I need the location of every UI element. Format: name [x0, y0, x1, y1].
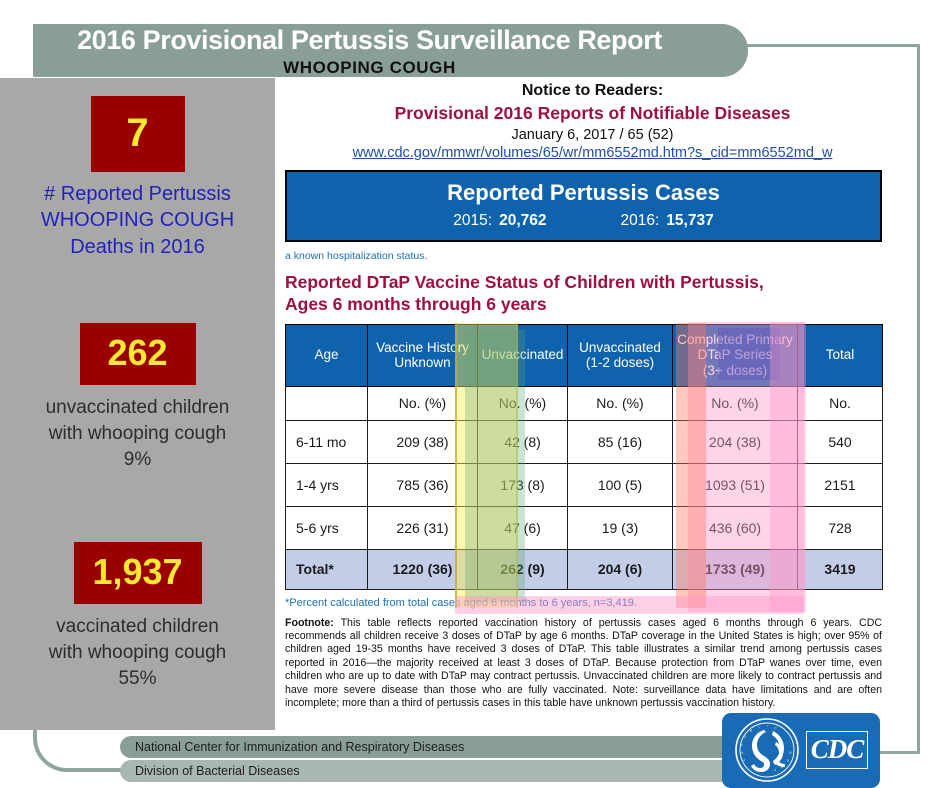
svg-text:I: I: [767, 724, 768, 728]
stat-value-unvaccinated: 262: [80, 323, 196, 385]
footnote-paragraph: Footnote: This table reflects reported v…: [285, 617, 882, 710]
total-row-unvacc: 262 (9): [478, 549, 568, 589]
sidebar-stats-panel: 7 # Reported Pertussis WHOOPING COUGH De…: [0, 78, 275, 730]
col-header-cps-l1: Completed Primary: [675, 332, 795, 348]
row-1-unvacc: 173 (8): [478, 463, 568, 506]
row-0-vhu: 209 (38): [368, 420, 478, 463]
row-0-cps: 204 (38): [673, 420, 798, 463]
page-title: 2016 Provisional Pertussis Surveillance …: [33, 25, 706, 56]
col-header-unvacc-l1: Unvaccinated: [480, 347, 565, 363]
col-header-unvaccinated-1-2-doses: Unvaccinated (1-2 doses): [568, 324, 673, 386]
cases-2015-label: 2015:: [453, 212, 492, 229]
row-2-vhu: 226 (31): [368, 506, 478, 549]
hospitalization-note: a known hospitalization status.: [285, 250, 900, 262]
main-content: Notice to Readers: Provisional 2016 Repo…: [285, 82, 900, 710]
col-header-age: Age: [286, 324, 368, 386]
unit-cell-age: [286, 386, 368, 420]
cdc-logo: U S P U B L I C D E P T CDC: [722, 713, 880, 788]
table-header-row: Age Vaccine History Unknown Unvaccinated…: [286, 324, 883, 386]
decorative-frame-left-hook: [33, 730, 123, 772]
col-header-vhu-l1: Vaccine History: [370, 340, 475, 356]
stat-block-vaccinated: 1,937 vaccinated children with whooping …: [0, 542, 275, 692]
page-subtitle: WHOOPING COUGH: [33, 58, 706, 78]
col-header-vaccine-history-unknown: Vaccine History Unknown: [368, 324, 478, 386]
notice-subtitle: Provisional 2016 Reports of Notifiable D…: [285, 103, 900, 124]
total-row-total: 3419: [798, 549, 883, 589]
stat-caption-unvaccinated: unvaccinated children with whooping coug…: [0, 395, 275, 473]
row-0-age: 6-11 mo: [286, 420, 368, 463]
cases-2015: 2015:20,762: [453, 212, 546, 230]
cases-2016-value: 15,737: [666, 212, 713, 229]
unit-cell-cps: No. (%): [673, 386, 798, 420]
stat-block-deaths: 7 # Reported Pertussis WHOOPING COUGH De…: [0, 96, 275, 260]
header-title-bar: 2016 Provisional Pertussis Surveillance …: [33, 24, 748, 77]
footnote-body: This table reflects reported vaccination…: [285, 617, 882, 709]
stat-block-unvaccinated: 262 unvaccinated children with whooping …: [0, 323, 275, 473]
svg-text:B: B: [749, 728, 752, 732]
unit-cell-total: No.: [798, 386, 883, 420]
col-header-cps-l2: DTaP Series: [675, 347, 795, 363]
reported-cases-title: Reported Pertussis Cases: [287, 180, 880, 206]
row-1-total: 2151: [798, 463, 883, 506]
notice-title: Notice to Readers:: [285, 82, 900, 100]
col-header-age-l1: Age: [288, 347, 365, 363]
table-total-row: Total* 1220 (36) 262 (9) 204 (6) 1733 (4…: [286, 549, 883, 589]
col-header-unvaccinated: Unvaccinated: [478, 324, 568, 386]
dtap-vaccine-status-table: Age Vaccine History Unknown Unvaccinated…: [285, 324, 883, 590]
unit-cell-vhu: No. (%): [368, 386, 478, 420]
total-row-cps: 1733 (49): [673, 549, 798, 589]
col-header-vhu-l2: Unknown: [370, 355, 475, 371]
col-header-cps-l3: (3+ doses): [675, 363, 795, 379]
total-row-vhu: 1220 (36): [368, 549, 478, 589]
row-1-vhu: 785 (36): [368, 463, 478, 506]
stat-caption-unvaccinated-line2: with whooping cough: [0, 421, 275, 447]
row-2-unvacc: 47 (6): [478, 506, 568, 549]
row-2-unvacc12: 19 (3): [568, 506, 673, 549]
row-2-age: 5-6 yrs: [286, 506, 368, 549]
row-1-cps: 1093 (51): [673, 463, 798, 506]
stat-caption-vaccinated: vaccinated children with whooping cough …: [0, 614, 275, 692]
total-row-label: Total*: [286, 549, 368, 589]
footer-org-line1: National Center for Immunization and Res…: [135, 736, 464, 758]
col-header-completed-primary-series: Completed Primary DTaP Series (3+ doses): [673, 324, 798, 386]
row-1-unvacc12: 100 (5): [568, 463, 673, 506]
svg-text:T: T: [774, 768, 776, 772]
total-row-unvacc12: 204 (6): [568, 549, 673, 589]
row-0-unvacc: 42 (8): [478, 420, 568, 463]
cdc-wordmark: CDC: [806, 731, 868, 769]
svg-text:P: P: [740, 743, 744, 747]
svg-text:U: U: [743, 735, 747, 740]
svg-text:E: E: [786, 758, 789, 762]
stat-caption-deaths-line3: Deaths in 2016: [0, 234, 275, 260]
stat-caption-vaccinated-line3: 55%: [0, 666, 275, 692]
stat-caption-deaths: # Reported Pertussis WHOOPING COUGH Deat…: [0, 181, 275, 260]
stat-caption-unvaccinated-line1: unvaccinated children: [0, 395, 275, 421]
table-unit-row: No. (%) No. (%) No. (%) No. (%) No.: [286, 386, 883, 420]
svg-text:P: P: [781, 764, 784, 768]
percent-footnote: *Percent calculated from total cases age…: [285, 597, 900, 609]
col-header-unvacc12-l1: Unvaccinated: [570, 340, 670, 356]
svg-text:C: C: [774, 726, 778, 731]
col-header-total: Total: [798, 324, 883, 386]
row-0-unvacc12: 85 (16): [568, 420, 673, 463]
row-2-cps: 436 (60): [673, 506, 798, 549]
reported-cases-values: 2015:20,762 2016:15,737: [287, 212, 880, 230]
unit-cell-unvacc12: No. (%): [568, 386, 673, 420]
stat-caption-deaths-line2: WHOOPING COUGH: [0, 207, 275, 233]
footnote-label: Footnote:: [285, 617, 334, 629]
stat-value-deaths: 7: [91, 96, 185, 172]
stat-caption-vaccinated-line1: vaccinated children: [0, 614, 275, 640]
cases-2016-label: 2016:: [621, 212, 660, 229]
hhs-seal-icon: U S P U B L I C D E P T: [734, 717, 800, 783]
col-header-total-l1: Total: [800, 347, 880, 363]
notice-source-link[interactable]: www.cdc.gov/mmwr/volumes/65/wr/mm6552md.…: [285, 145, 900, 161]
row-1-age: 1-4 yrs: [286, 463, 368, 506]
table-row: 5-6 yrs 226 (31) 47 (6) 19 (3) 436 (60) …: [286, 506, 883, 549]
col-header-unvacc12-l2: (1-2 doses): [570, 355, 670, 371]
table-row: 6-11 mo 209 (38) 42 (8) 85 (16) 204 (38)…: [286, 420, 883, 463]
table-title: Reported DTaP Vaccine Status of Children…: [285, 271, 900, 316]
table-title-line1: Reported DTaP Vaccine Status of Children…: [285, 271, 900, 293]
stat-caption-vaccinated-line2: with whooping cough: [0, 640, 275, 666]
stat-caption-unvaccinated-line3: 9%: [0, 447, 275, 473]
stat-value-vaccinated: 1,937: [74, 542, 202, 604]
table-title-line2: Ages 6 months through 6 years: [285, 293, 900, 315]
svg-text:L: L: [758, 724, 760, 728]
stat-caption-deaths-line1: # Reported Pertussis: [0, 181, 275, 207]
unit-cell-unvacc: No. (%): [478, 386, 568, 420]
row-2-total: 728: [798, 506, 883, 549]
cases-2016: 2016:15,737: [621, 212, 714, 230]
notice-date: January 6, 2017 / 65 (52): [285, 127, 900, 143]
table-row: 1-4 yrs 785 (36) 173 (8) 100 (5) 1093 (5…: [286, 463, 883, 506]
reported-cases-box: Reported Pertussis Cases 2015:20,762 201…: [285, 170, 882, 242]
svg-text:D: D: [788, 750, 793, 755]
row-0-total: 540: [798, 420, 883, 463]
footer-org-line2: Division of Bacterial Diseases: [135, 760, 300, 782]
slide-canvas: 2016 Provisional Pertussis Surveillance …: [0, 0, 940, 788]
cases-2015-value: 20,762: [499, 212, 546, 229]
